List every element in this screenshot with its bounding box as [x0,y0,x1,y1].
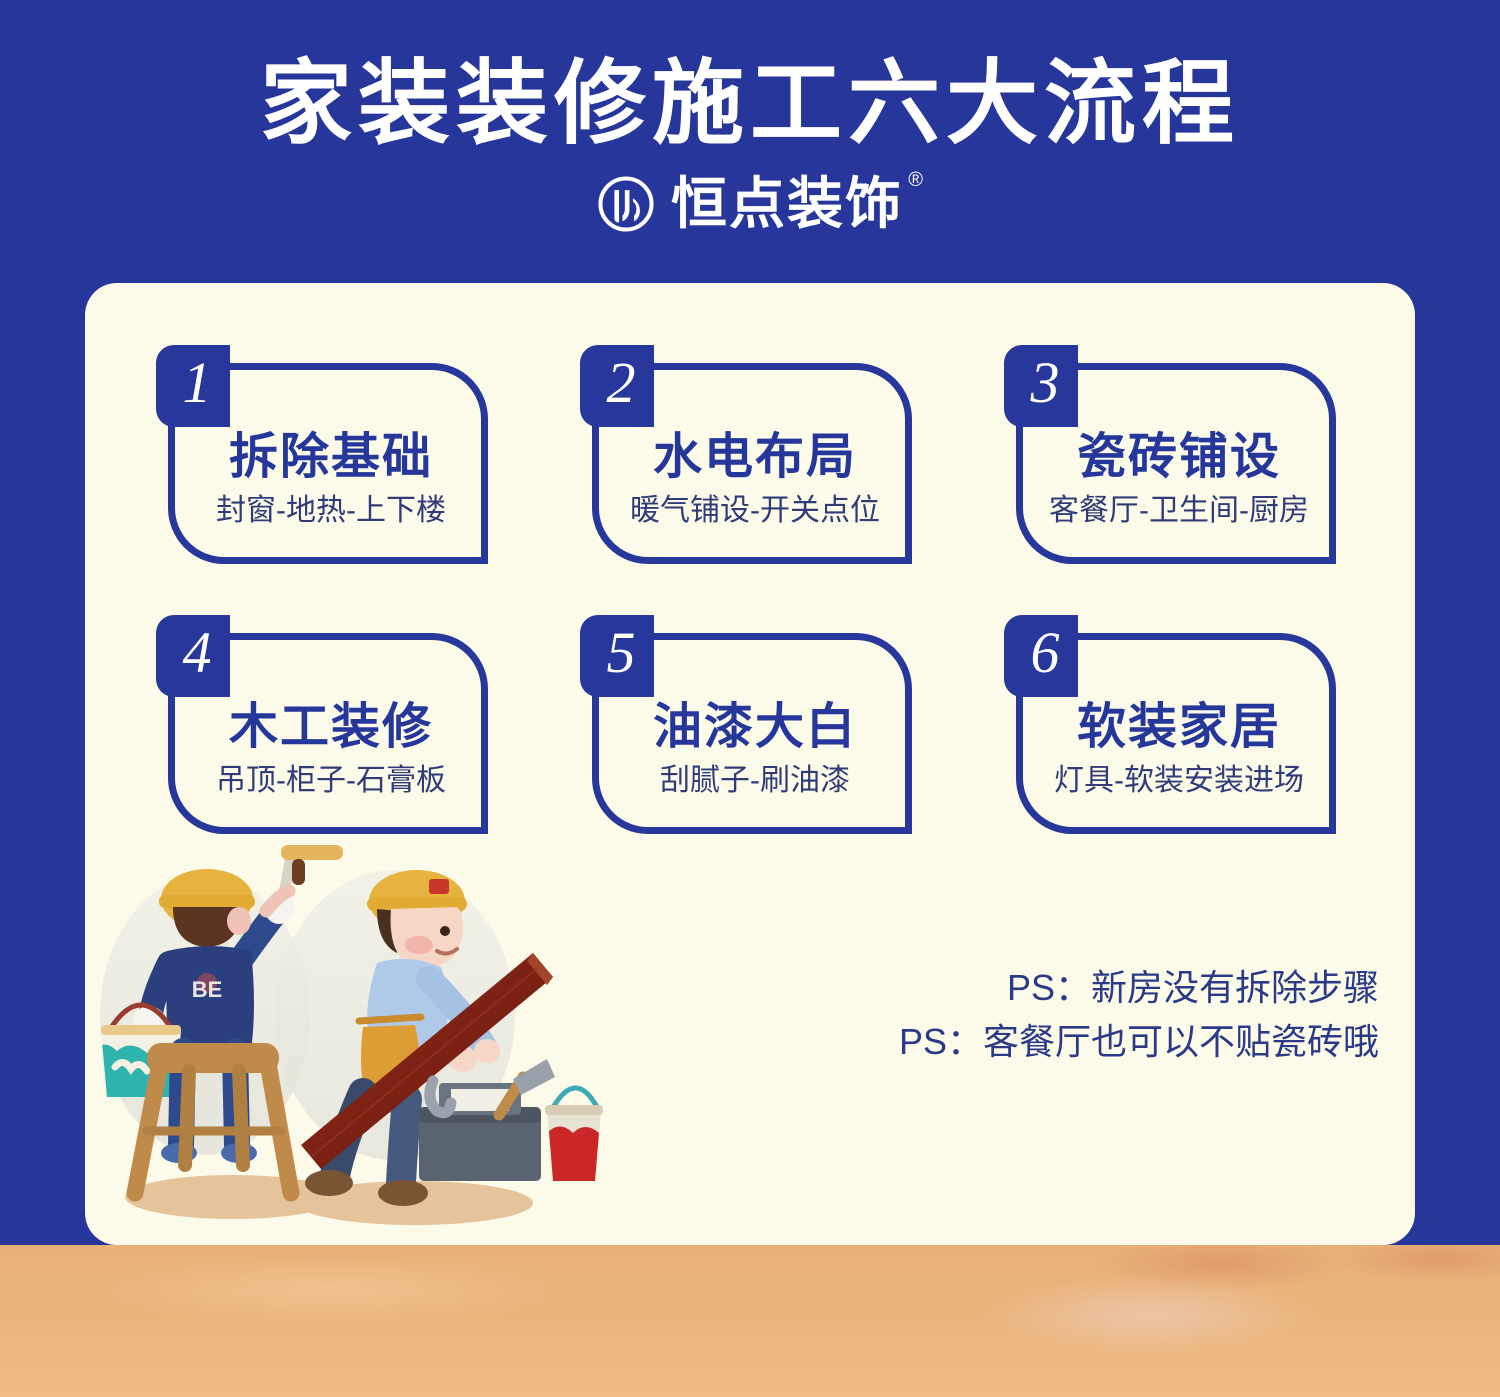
step-number-badge: 3 [1004,345,1078,427]
step-number: 5 [607,624,636,682]
hat-badge-icon [429,879,449,894]
apron-strap [359,1017,421,1021]
process-card-1[interactable]: 1 拆除基础 封窗-地热-上下楼 [156,345,508,574]
construction-workers-illustration: BE [85,845,605,1245]
card-heading: 木工装修 [170,699,492,755]
card-subtitle: 客餐厅-卫生间-厨房 [1018,493,1340,529]
card-subtitle: 吊顶-柜子-石膏板 [170,763,492,799]
shirt-logo-text: BE [192,977,223,1002]
process-card-6[interactable]: 6 软装家居 灯具-软装安装进场 [1004,615,1356,844]
bucket-rim [101,1025,181,1035]
step-number-badge: 4 [156,615,230,697]
stool-leg-3 [185,1071,189,1165]
brand-name: 恒点装饰 [671,172,903,235]
card-subtitle: 刮腻子-刷油漆 [594,763,916,799]
process-card-2[interactable]: 2 水电布局 暖气铺设-开关点位 [580,345,932,574]
leg-front [401,1099,407,1183]
ps-note-line: PS：客餐厅也可以不贴瓷砖哦 [899,1015,1379,1069]
card-heading: 软装家居 [1018,699,1340,755]
card-heading: 拆除基础 [170,429,492,485]
step-number: 6 [1031,624,1060,682]
toolbox-body [419,1113,541,1181]
page-title: 家装装修施工六大流程 [0,52,1500,156]
process-card-5[interactable]: 5 油漆大白 刮腻子-刷油漆 [580,615,932,844]
content-panel: 1 拆除基础 封窗-地热-上下楼 2 水电布局 暖气铺设-开关点位 3 瓷砖 [85,283,1415,1245]
card-text: 拆除基础 封窗-地热-上下楼 [170,429,492,529]
card-text: 木工装修 吊顶-柜子-石膏板 [170,699,492,799]
brand-lockup: 恒点装饰 ® [0,174,1500,234]
hand-back [474,1039,500,1063]
roller-head [281,845,343,860]
cheek-blush [405,936,433,954]
card-subtitle: 封窗-地热-上下楼 [170,493,492,529]
roller-handle [292,859,305,885]
red-bucket-paint [549,1126,599,1181]
card-heading: 油漆大白 [594,699,916,755]
card-subtitle: 暖气铺设-开关点位 [594,493,916,529]
step-number-badge: 2 [580,345,654,427]
process-card-4[interactable]: 4 木工装修 吊顶-柜子-石膏板 [156,615,508,844]
boot-front [378,1180,428,1206]
header: 家装装修施工六大流程 恒点装饰 ® [0,0,1500,283]
step-number: 3 [1031,354,1060,412]
process-card-3[interactable]: 3 瓷砖铺设 客餐厅-卫生间-厨房 [1004,345,1356,574]
card-text: 水电布局 暖气铺设-开关点位 [594,429,916,529]
card-text: 软装家居 灯具-软装安装进场 [1018,699,1340,799]
registered-trademark-icon: ® [908,170,923,190]
ps-note-line: PS：新房没有拆除步骤 [899,961,1379,1015]
ps-notes: PS：新房没有拆除步骤 PS：客餐厅也可以不贴瓷砖哦 [899,961,1379,1069]
step-number: 1 [183,354,212,412]
ear-cheek [227,907,251,935]
hat-brim [159,895,255,908]
step-number: 4 [183,624,212,682]
process-steps-grid: 1 拆除基础 封窗-地热-上下楼 2 水电布局 暖气铺设-开关点位 3 瓷砖 [156,345,1356,844]
eye [440,926,450,936]
step-number: 2 [607,354,636,412]
card-subtitle: 灯具-软装安装进场 [1018,763,1340,799]
step-number-badge: 6 [1004,615,1078,697]
paint-bucket-red [545,1088,603,1181]
stool-leg-4 [239,1071,243,1165]
red-bucket-rim [545,1105,603,1115]
hengdian-circle-logo-icon [597,175,655,233]
card-text: 油漆大白 刮腻子-刷油漆 [594,699,916,799]
ground-strip [0,1245,1500,1397]
card-heading: 水电布局 [594,429,916,485]
card-text: 瓷砖铺设 客餐厅-卫生间-厨房 [1018,429,1340,529]
card-heading: 瓷砖铺设 [1018,429,1340,485]
step-number-badge: 1 [156,345,230,427]
step-number-badge: 5 [580,615,654,697]
brand-name-wrapper: 恒点装饰 ® [671,174,903,234]
boot-back [305,1170,353,1196]
